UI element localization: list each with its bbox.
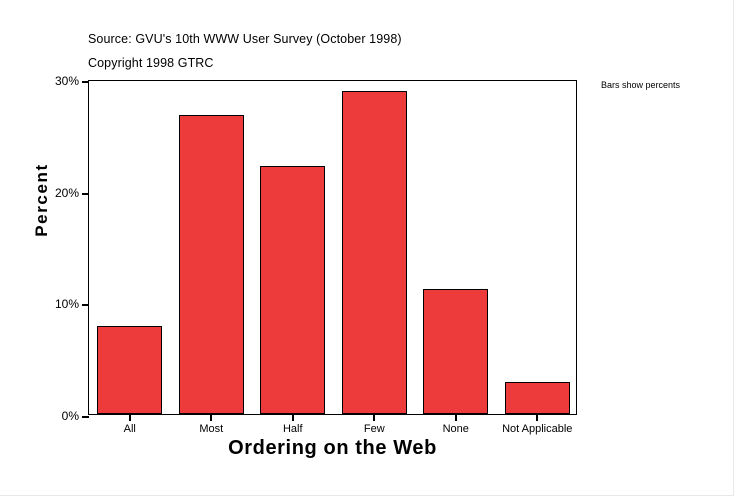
chart-window: Source: GVU's 10th WWW User Survey (Octo… xyxy=(0,0,734,496)
y-axis-tick-label: 10% xyxy=(55,297,79,311)
x-axis-tick xyxy=(129,414,131,421)
x-axis-title: Ordering on the Web xyxy=(88,437,577,460)
y-axis-tick xyxy=(82,81,89,83)
x-axis-tick-label: Half xyxy=(283,423,303,435)
x-axis-tick-label: Not Applicable xyxy=(502,423,572,435)
x-axis-tick xyxy=(455,414,457,421)
y-axis-tick-label: 20% xyxy=(55,186,79,200)
bar xyxy=(505,382,570,414)
bar xyxy=(342,91,407,414)
y-axis-tick-label: 0% xyxy=(62,409,79,423)
bars-show-percents-note: Bars show percents xyxy=(601,80,680,90)
x-axis-tick-label: Most xyxy=(199,423,223,435)
x-axis-tick-label: Few xyxy=(364,423,385,435)
source-line: Source: GVU's 10th WWW User Survey (Octo… xyxy=(88,32,402,46)
x-axis-tick xyxy=(536,414,538,421)
plot-frame: 0%10%20%30% AllMostHalfFewNoneNot Applic… xyxy=(88,80,577,415)
y-axis-tick xyxy=(82,416,89,418)
x-axis-tick xyxy=(292,414,294,421)
x-axis-tick xyxy=(373,414,375,421)
y-axis-tick xyxy=(82,304,89,306)
x-axis-tick-label: All xyxy=(124,423,136,435)
bar xyxy=(97,326,162,414)
y-axis-title: Percent xyxy=(32,140,52,260)
plot-area: 0%10%20%30% AllMostHalfFewNoneNot Applic… xyxy=(89,81,576,414)
x-axis-tick xyxy=(210,414,212,421)
bar xyxy=(423,289,488,414)
bar xyxy=(260,166,325,414)
bar xyxy=(179,115,244,414)
copyright-line: Copyright 1998 GTRC xyxy=(88,56,214,70)
x-axis-tick-label: None xyxy=(443,423,469,435)
y-axis-tick-label: 30% xyxy=(55,74,79,88)
y-axis-tick xyxy=(82,193,89,195)
